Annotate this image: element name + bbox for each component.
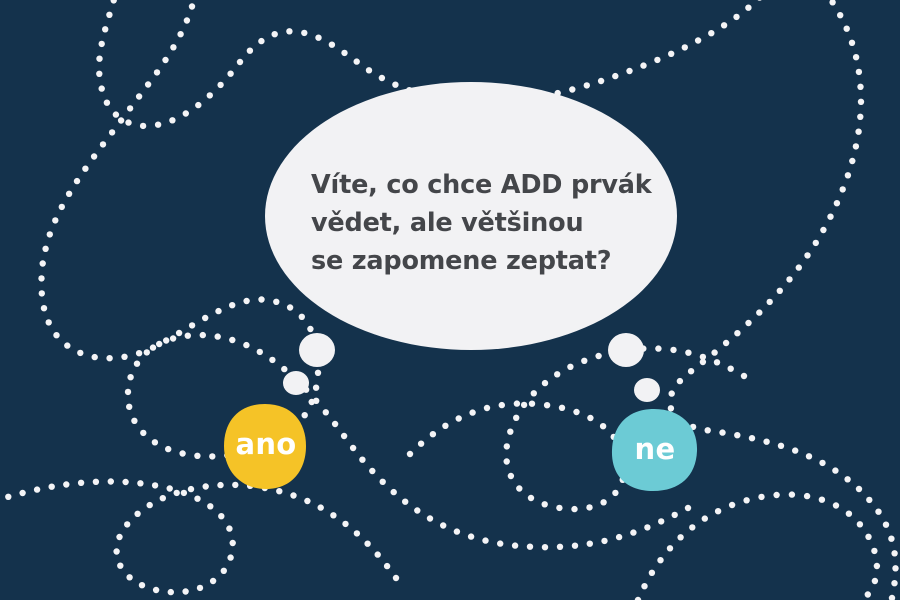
poster-canvas: Víte, co chce ADD prvák vědet, ale větši… (0, 0, 900, 600)
tail-bubble-left-large (299, 333, 335, 367)
tail-bubble-left-small (283, 371, 309, 395)
answer-button-ano[interactable] (223, 403, 309, 491)
tail-bubble-right-small (634, 378, 660, 402)
answer-button-ne[interactable] (610, 408, 700, 494)
thought-bubble-region (265, 82, 677, 350)
tail-bubble-right-large (608, 333, 644, 367)
